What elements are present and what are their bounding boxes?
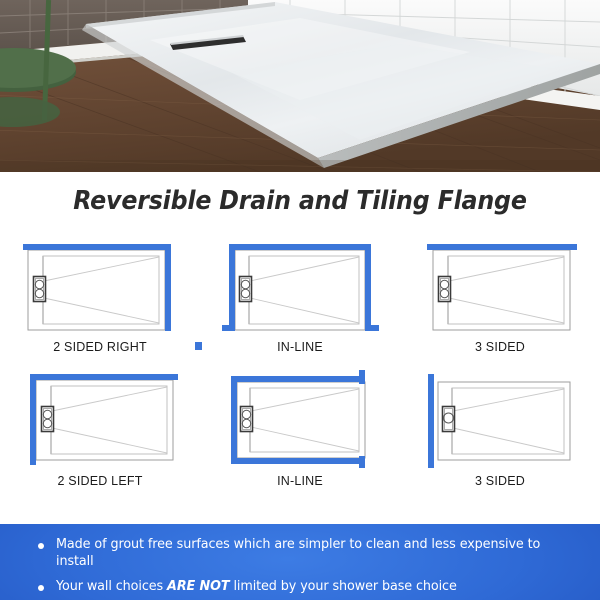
page-title: Reversible Drain and Tiling Flange [21, 186, 579, 216]
diagram-label: 2 SIDED LEFT [0, 474, 200, 488]
bullet-dot-icon [38, 543, 44, 549]
diagram-label: IN-LINE [200, 340, 400, 354]
product-infographic-page: Reversible Drain and Tiling Flange [0, 0, 600, 600]
diagram-cell-2-sided-left[interactable]: 2 SIDED LEFT [0, 364, 200, 494]
benefits-band: Made of grout free surfaces which are si… [0, 524, 600, 600]
diagram-label: 3 SIDED [400, 474, 600, 488]
diagram-3-sided-top [400, 236, 600, 336]
diagram-in-line-bottom [200, 364, 400, 468]
diagram-label: IN-LINE [200, 474, 400, 488]
bullet-emphasis: ARE NOT [167, 579, 229, 594]
diagram-in-line-top [200, 236, 400, 336]
diagram-2-sided-left [0, 364, 200, 468]
diagram-row-1: 2 SIDED RIGHT [0, 236, 600, 364]
diagram-2-sided-right [0, 236, 200, 336]
blue-square-marker-icon [195, 342, 202, 350]
diagram-row-2: 2 SIDED LEFT [0, 364, 600, 494]
diagram-cell-3-sided-bottom[interactable]: 3 SIDED [400, 364, 600, 494]
bullet-text-2: Your wall choices ARE NOT limited by you… [56, 578, 457, 595]
bullet-text-1: Made of grout free surfaces which are si… [56, 536, 553, 570]
diagram-cell-in-line-bottom[interactable]: IN-LINE [200, 364, 400, 494]
hero-photo-illustration [0, 0, 600, 172]
tray-plan-illustration [410, 364, 590, 468]
tray-plan-illustration [410, 236, 590, 336]
diagram-3-sided-bottom [400, 364, 600, 468]
diagram-label: 3 SIDED [400, 340, 600, 354]
hero-photo [0, 0, 600, 172]
tray-plan-illustration [10, 364, 190, 468]
diagram-cell-in-line-top[interactable]: IN-LINE [200, 236, 400, 364]
tray-plan-illustration [10, 236, 190, 336]
diagram-label: 2 SIDED RIGHT [0, 340, 200, 354]
diagram-grid: 2 SIDED RIGHT [0, 236, 600, 494]
diagram-cell-3-sided-top[interactable]: 3 SIDED [400, 236, 600, 364]
tray-plan-illustration [210, 236, 390, 336]
bullet-dot-icon [38, 585, 44, 591]
list-item: Your wall choices ARE NOT limited by you… [38, 578, 574, 595]
tray-plan-illustration [210, 364, 390, 468]
list-item: Made of grout free surfaces which are si… [38, 536, 574, 570]
diagram-cell-2-sided-right[interactable]: 2 SIDED RIGHT [0, 236, 200, 364]
